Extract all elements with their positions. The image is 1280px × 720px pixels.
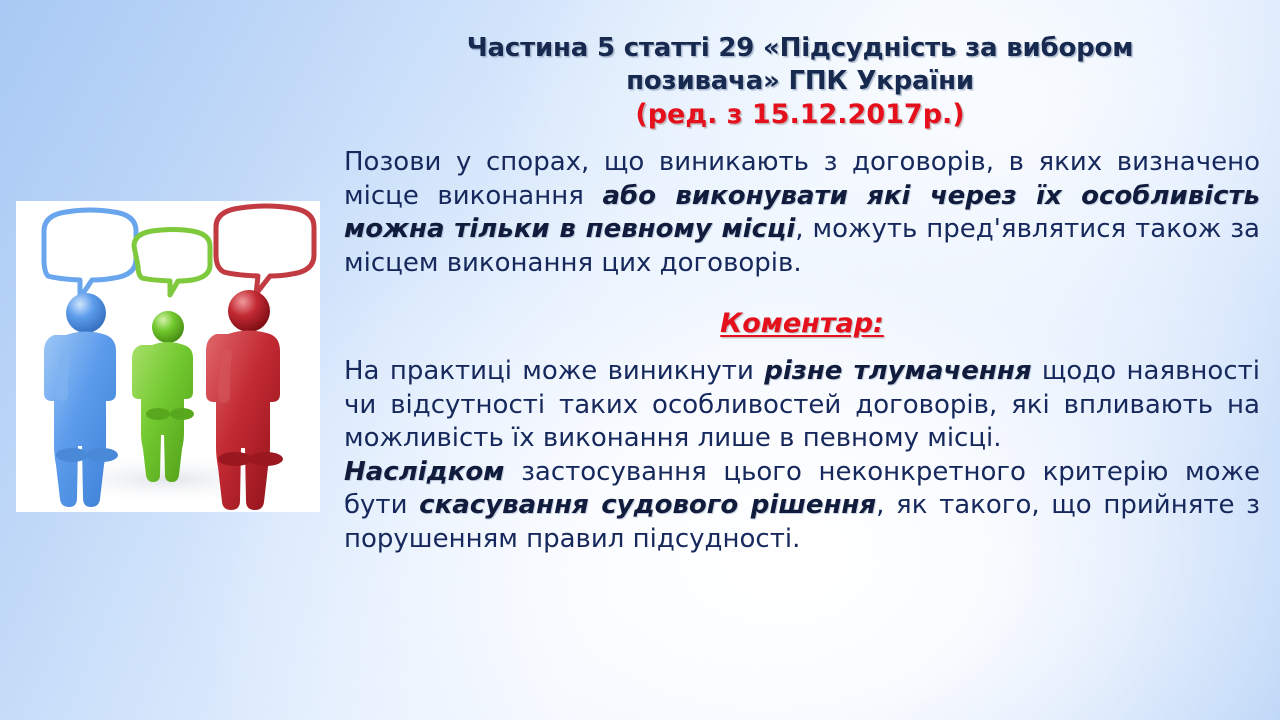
slide-title-line-2: позивача» ГПК України xyxy=(336,65,1264,98)
paragraph-2-emphasis-1: різне тлумачення xyxy=(764,356,1031,386)
paragraph-commentary-2: Наслідком застосування цього неконкретно… xyxy=(344,456,1260,557)
spacer xyxy=(344,280,1260,307)
paragraph-commentary-1: На практиці може виникнути різне тлумаче… xyxy=(344,355,1260,456)
illustration-image xyxy=(16,201,320,512)
paragraph-3-emphasis-2: скасування судового рішення xyxy=(419,490,876,520)
spacer xyxy=(344,341,1260,355)
paragraph-2-part-1: На практиці може виникнути xyxy=(344,356,764,386)
paragraph-law-text: Позови у спорах, що виникають з договорі… xyxy=(344,146,1260,280)
three-people-speech-bubbles-graphic xyxy=(16,201,320,512)
paragraph-3-emphasis-1: Наслідком xyxy=(344,457,504,487)
slide-body: Позови у спорах, що виникають з договорі… xyxy=(344,146,1260,556)
comment-heading: Коментар: xyxy=(344,307,1260,341)
slide-title-line-1: Частина 5 статті 29 «Підсудність за вибо… xyxy=(336,32,1264,65)
slide-canvas: Частина 5 статті 29 «Підсудність за вибо… xyxy=(0,0,1280,720)
slide-title-date: (ред. з 15.12.2017р.) xyxy=(336,98,1264,132)
slide-title-block: Частина 5 статті 29 «Підсудність за вибо… xyxy=(336,32,1264,132)
